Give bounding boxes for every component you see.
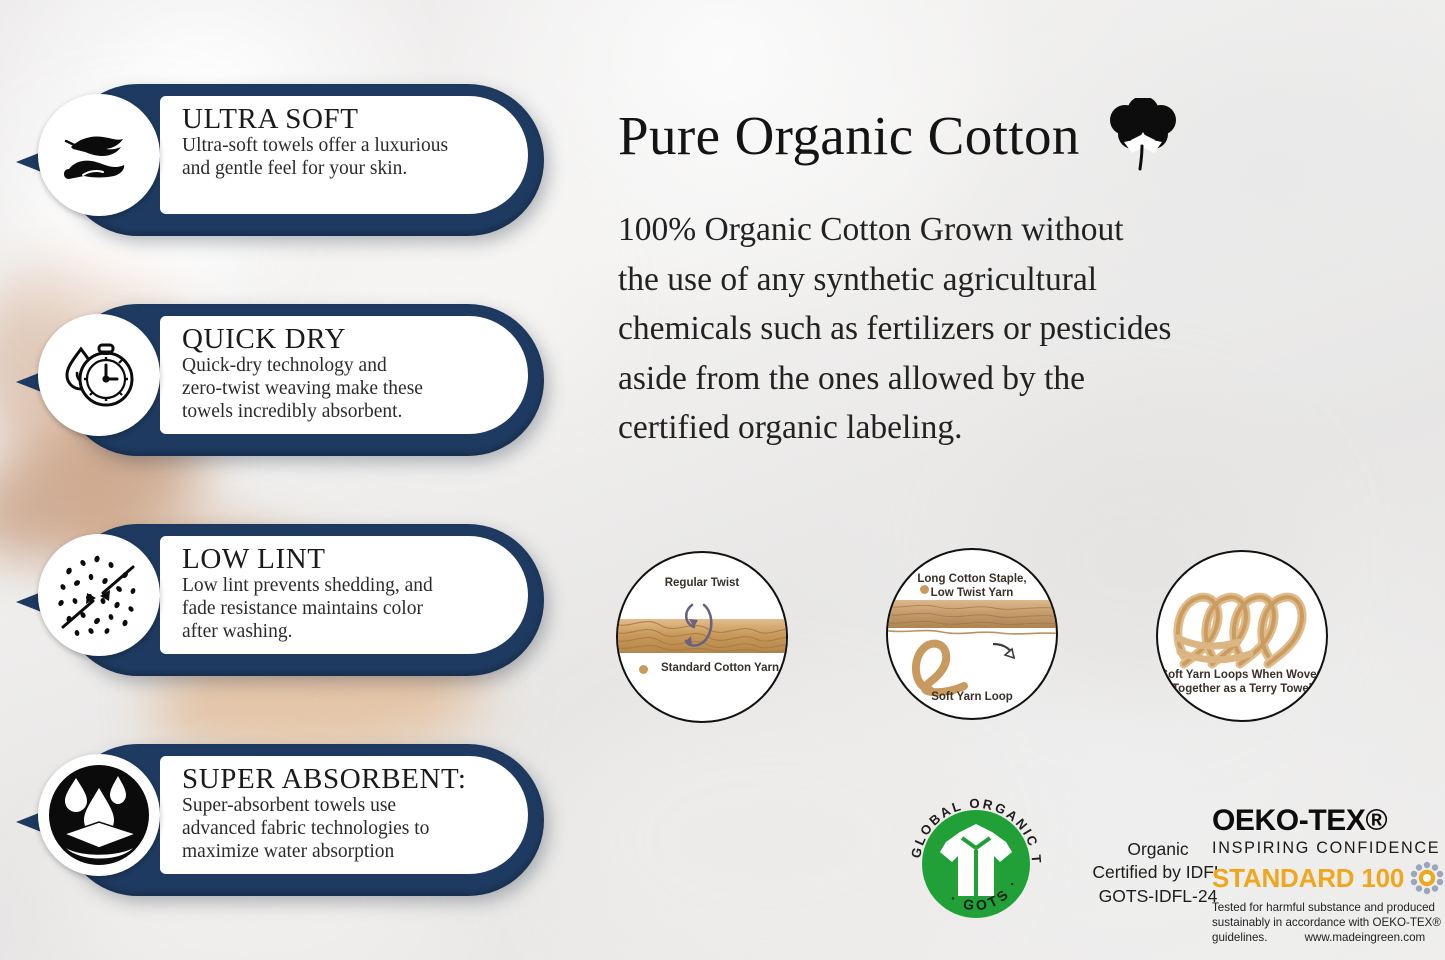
body-line: certified organic labeling. (618, 403, 1428, 453)
oeko-tex-badge: OEKO-TEX® INSPIRING CONFIDENCE STANDARD … (1212, 806, 1444, 945)
feature-card-ultra-soft[interactable]: ULTRA SOFT Ultra-soft towels offer a lux… (12, 78, 550, 246)
body-copy: 100% Organic Cotton Grown without the us… (618, 205, 1428, 453)
yarn-diagram-low-twist: Long Cotton Staple, Low Twist Yarn Soft … (886, 548, 1058, 720)
yarn-diagram-terry-loops: Soft Yarn Loops When Woven Together as a… (1156, 550, 1328, 722)
feature-card-quick-dry[interactable]: QUICK DRY Quick-dry technology and zero-… (12, 298, 550, 466)
pill-text-panel: QUICK DRY Quick-dry technology and zero-… (160, 316, 528, 434)
feature-description-line: maximize water absorption (182, 841, 502, 864)
feature-description-line: after washing. (182, 621, 502, 644)
yarn-top-label-line: Long Cotton Staple, (888, 572, 1056, 586)
feature-description: Quick-dry technology and zero-twist weav… (182, 355, 502, 423)
body-line: 100% Organic Cotton Grown without (618, 205, 1428, 255)
feature-description-line: towels incredibly absorbent. (182, 401, 502, 424)
yarn-bottom-label-line: Together as a Terry Towel (1158, 682, 1326, 696)
oeko-fine-last-row: guidelines. www.madeingreen.com (1212, 930, 1444, 945)
lint-particles-arrows-icon (38, 534, 160, 656)
feature-title: SUPER ABSORBENT: (182, 764, 502, 794)
feature-description-line: and gentle feel for your skin. (182, 158, 502, 181)
droplets-on-fabric-icon (38, 754, 160, 876)
feature-title: LOW LINT (182, 544, 502, 574)
feature-description-line: Quick-dry technology and (182, 355, 502, 378)
feature-card-low-lint[interactable]: LOW LINT Low lint prevents shedding, and… (12, 518, 550, 686)
yarn-top-label-line: Low Twist Yarn (888, 586, 1056, 600)
body-line: the use of any synthetic agricultural (618, 255, 1428, 305)
yarn-diagrams: Regular Twist (608, 548, 1445, 728)
oeko-fine-line: sustainably in accordance with OEKO-TEX® (1212, 915, 1444, 930)
yarn-bottom-label: Soft Yarn Loop (888, 690, 1056, 704)
yarn-diagram-regular-twist: Regular Twist (616, 551, 788, 723)
gots-logo: GLOBAL ORGANIC TEXTILE STANDARD · GOTS · (900, 788, 1052, 940)
oeko-standard-label: STANDARD 100 (1212, 865, 1404, 891)
pill-text-panel: LOW LINT Low lint prevents shedding, and… (160, 536, 528, 654)
pill-text-panel: ULTRA SOFT Ultra-soft towels offer a lux… (160, 96, 528, 214)
feature-title: ULTRA SOFT (182, 104, 502, 134)
body-line: aside from the ones allowed by the (618, 354, 1428, 404)
cotton-boll-icon (1102, 98, 1184, 172)
feature-description: Ultra-soft towels offer a luxurious and … (182, 135, 502, 180)
feature-description: Low lint prevents shedding, and fade res… (182, 575, 502, 643)
certification-row: GLOBAL ORGANIC TEXTILE STANDARD · GOTS ·… (608, 780, 1445, 960)
infographic-canvas: ULTRA SOFT Ultra-soft towels offer a lux… (0, 0, 1445, 960)
droplet-stopwatch-icon (38, 314, 160, 436)
oeko-title: OEKO-TEX® (1212, 806, 1444, 836)
feather-on-hand-icon (38, 94, 160, 216)
yarn-bottom-label-line: Soft Yarn Loops When Woven (1158, 668, 1326, 682)
right-column: Pure Organic Cotton 100% Organic Cotton (608, 0, 1445, 960)
feature-description: Super-absorbent towels use advanced fabr… (182, 795, 502, 863)
body-line: chemicals such as fertilizers or pestici… (618, 304, 1428, 354)
feature-description-line: Ultra-soft towels offer a luxurious (182, 135, 502, 158)
yarn-bottom-label: Standard Cotton Yarn (618, 661, 788, 675)
feature-description-line: Super-absorbent towels use (182, 795, 502, 818)
oeko-standard-row: STANDARD 100 (1212, 861, 1444, 895)
feature-description-line: Low lint prevents shedding, and (182, 575, 502, 598)
headline-row: Pure Organic Cotton (618, 98, 1184, 172)
oeko-fine-print: Tested for harmful substance and produce… (1212, 900, 1444, 945)
feature-list: ULTRA SOFT Ultra-soft towels offer a lux… (0, 0, 600, 960)
page-title: Pure Organic Cotton (618, 104, 1080, 167)
feature-title: QUICK DRY (182, 324, 502, 354)
feature-card-super-absorbent[interactable]: SUPER ABSORBENT: Super-absorbent towels … (12, 738, 550, 906)
yarn-top-label: Long Cotton Staple, Low Twist Yarn (888, 572, 1056, 600)
yarn-bottom-label: Soft Yarn Loops When Woven Together as a… (1158, 668, 1326, 696)
pill-text-panel: SUPER ABSORBENT: Super-absorbent towels … (160, 756, 528, 874)
feature-description-line: zero-twist weaving make these (182, 378, 502, 401)
oeko-url[interactable]: www.madeingreen.com (1305, 931, 1426, 944)
oeko-fine-line: guidelines. (1212, 931, 1267, 944)
made-in-green-flower-icon (1410, 861, 1444, 895)
feature-description-line: fade resistance maintains color (182, 598, 502, 621)
oeko-fine-line: Tested for harmful substance and produce… (1212, 900, 1444, 915)
oeko-subtitle: INSPIRING CONFIDENCE (1212, 840, 1444, 856)
feature-description-line: advanced fabric technologies to (182, 818, 502, 841)
